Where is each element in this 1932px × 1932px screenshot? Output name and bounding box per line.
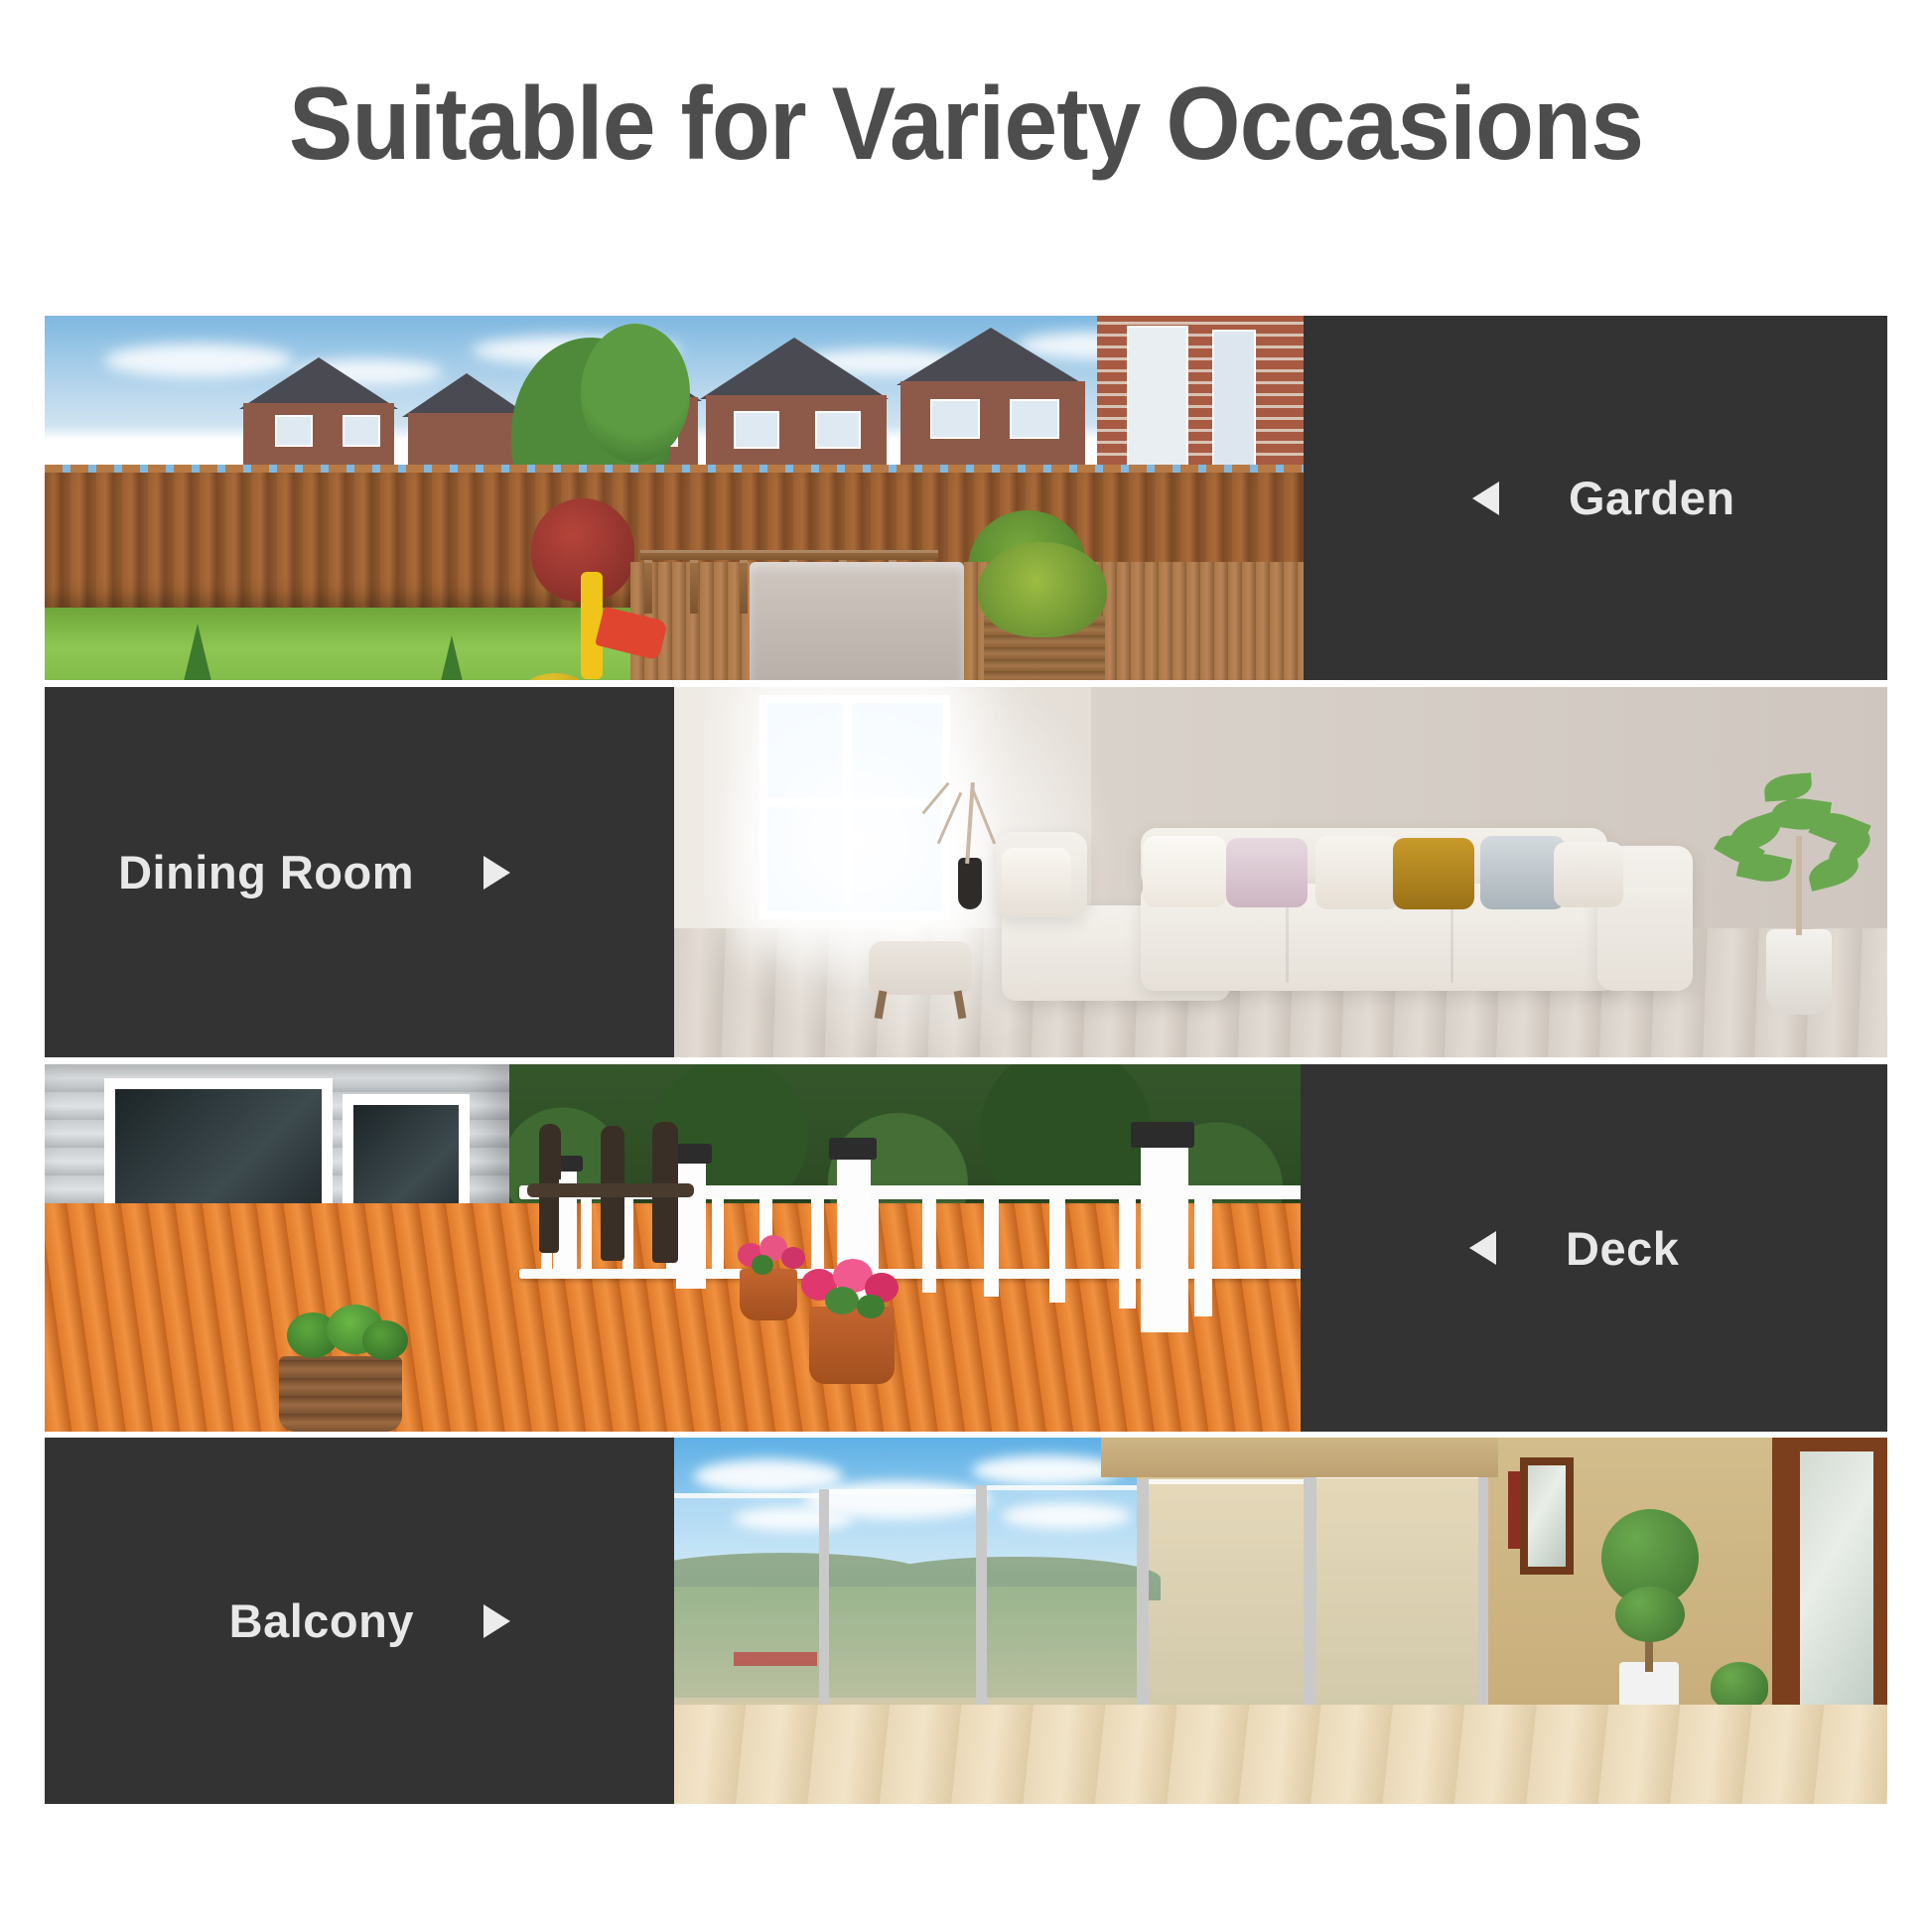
balcony-label-panel[interactable]: Balcony	[45, 1438, 674, 1804]
occasion-row-garden: Garden	[45, 316, 1887, 680]
dining-label-panel[interactable]: Dining Room	[45, 687, 674, 1057]
page-title: Suitable for Variety Occasions	[68, 62, 1864, 187]
deck-label-panel[interactable]: Deck	[1301, 1064, 1887, 1432]
triangle-left-icon	[1469, 1231, 1496, 1265]
dining-label: Dining Room	[118, 845, 414, 899]
balcony-label: Balcony	[229, 1593, 414, 1648]
occasion-row-dining: Dining Room	[45, 687, 1887, 1057]
deck-label: Deck	[1566, 1221, 1679, 1276]
triangle-right-icon	[483, 1604, 510, 1638]
deck-photo	[45, 1064, 1301, 1432]
balcony-photo	[674, 1438, 1887, 1804]
garden-label: Garden	[1569, 471, 1735, 525]
dining-room-photo	[674, 687, 1887, 1057]
triangle-right-icon	[483, 856, 510, 890]
triangle-left-icon	[1472, 482, 1499, 515]
garden-photo	[45, 316, 1304, 680]
occasion-row-deck: Deck	[45, 1064, 1887, 1432]
occasion-row-balcony: Balcony	[45, 1438, 1887, 1804]
garden-label-panel[interactable]: Garden	[1304, 316, 1887, 680]
